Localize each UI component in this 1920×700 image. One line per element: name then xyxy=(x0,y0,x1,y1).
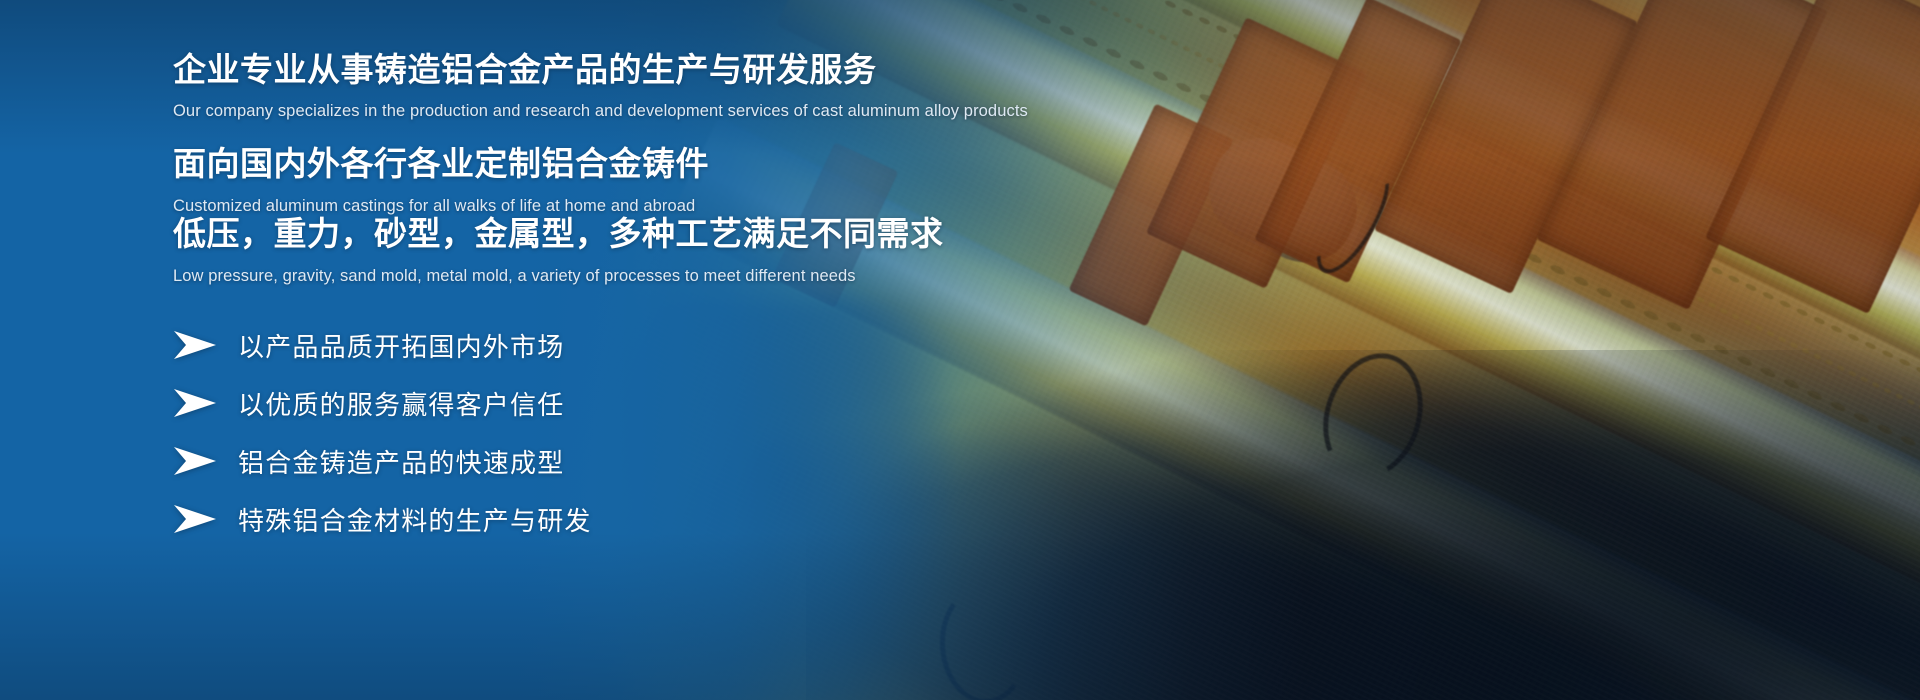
arrow-right-icon xyxy=(173,446,217,476)
arrow-right-icon xyxy=(173,330,217,360)
list-item[interactable]: 以产品品质开拓国内外市场 xyxy=(173,316,873,374)
feature-bullet-list: 以产品品质开拓国内外市场 以优质的服务赢得客户信任 铝合金铸造产品的快速成型 特… xyxy=(173,316,873,548)
heading-1-en: Our company specializes in the productio… xyxy=(173,101,1028,122)
arrow-right-icon xyxy=(173,504,217,534)
heading-block-1: 企业专业从事铸造铝合金产品的生产与研发服务 Our company specia… xyxy=(173,51,1028,122)
list-item-label: 以产品品质开拓国内外市场 xyxy=(238,327,564,364)
list-item-label: 特殊铝合金材料的生产与研发 xyxy=(238,501,592,538)
heading-3-cn: 低压，重力，砂型，金属型，多种工艺满足不同需求 xyxy=(173,215,944,253)
list-item[interactable]: 特殊铝合金材料的生产与研发 xyxy=(173,490,873,548)
heading-2-cn: 面向国内外各行各业定制铝合金铸件 xyxy=(173,145,709,183)
list-item[interactable]: 以优质的服务赢得客户信任 xyxy=(173,374,873,432)
list-item-label: 以优质的服务赢得客户信任 xyxy=(238,385,564,422)
list-item[interactable]: 铝合金铸造产品的快速成型 xyxy=(173,432,873,490)
heading-block-3: 低压，重力，砂型，金属型，多种工艺满足不同需求 Low pressure, gr… xyxy=(173,215,944,287)
arrow-right-icon xyxy=(173,388,217,418)
heading-block-2: 面向国内外各行各业定制铝合金铸件 Customized aluminum cas… xyxy=(173,145,709,217)
list-item-label: 铝合金铸造产品的快速成型 xyxy=(238,443,564,480)
heading-3-en: Low pressure, gravity, sand mold, metal … xyxy=(173,266,944,287)
heading-1-cn: 企业专业从事铸造铝合金产品的生产与研发服务 xyxy=(173,51,1028,89)
banner-content: 企业专业从事铸造铝合金产品的生产与研发服务 Our company specia… xyxy=(173,0,1353,700)
hero-banner: 企业专业从事铸造铝合金产品的生产与研发服务 Our company specia… xyxy=(0,0,1920,700)
